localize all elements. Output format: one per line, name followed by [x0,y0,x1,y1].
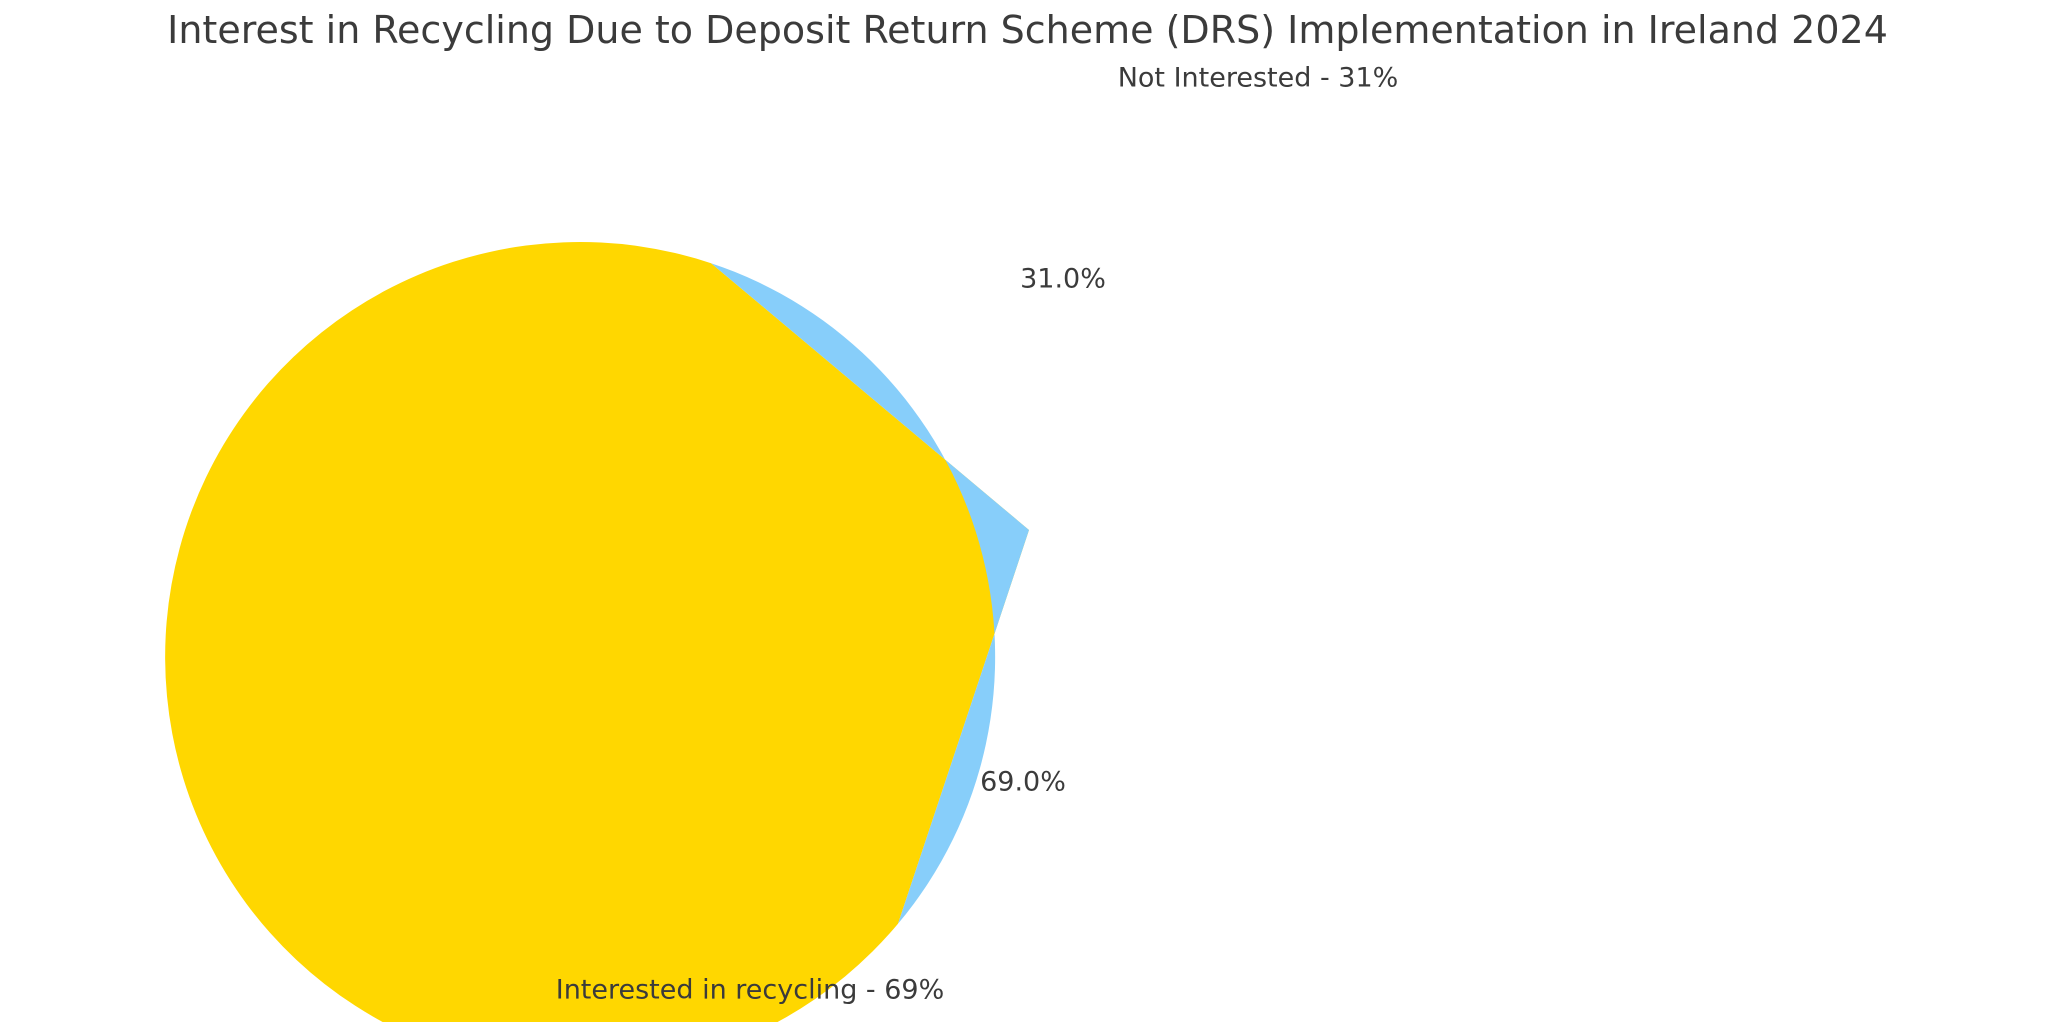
pie-slice-label-interested: Interested in recycling - 69% [556,977,945,1004]
pie-slice-label-not-interested: Not Interested - 31% [1118,65,1399,92]
pie-chart-canvas [0,0,2055,1022]
pie-slice-interested-in-recycling[interactable] [165,242,1029,1022]
pie-slice-percent-interested: 69.0% [980,769,1066,796]
pie-slice-percent-not-interested: 31.0% [1020,266,1106,293]
pie-chart-figure: Interest in Recycling Due to Deposit Ret… [0,0,2055,1022]
